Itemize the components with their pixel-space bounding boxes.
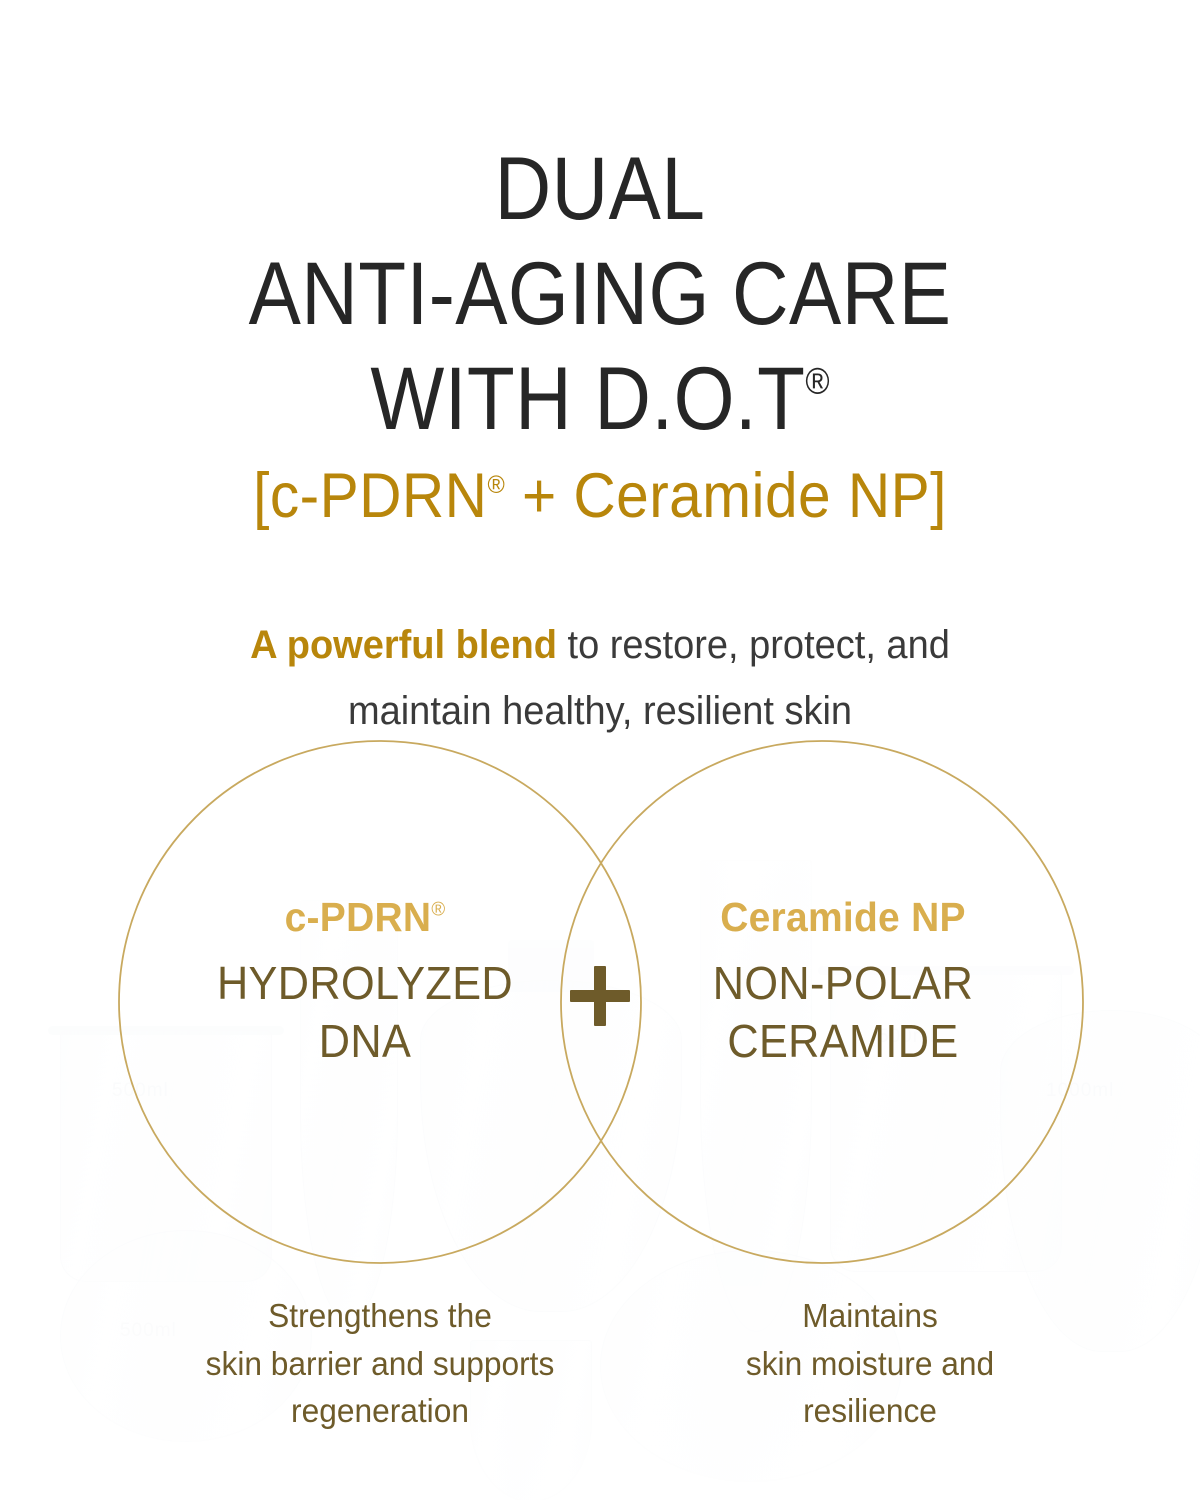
venn-label-right: Ceramide NP NON-POLAR CERAMIDE	[608, 892, 1078, 1071]
venn-right-tradename: Ceramide NP	[620, 892, 1067, 943]
description-paragraph: A powerful blend to restore, protect, an…	[30, 612, 1170, 744]
bracket-close: ]	[930, 461, 947, 531]
ingredient-name-secondary: Ceramide NP	[573, 461, 930, 531]
ingredient-subtitle: [c-PDRN® + Ceramide NP]	[42, 460, 1158, 532]
description-line1: to restore, protect, and	[557, 623, 950, 667]
description-accent: A powerful blend	[250, 623, 557, 667]
registered-trademark-icon: ®	[431, 898, 445, 920]
venn-left-tradename-text: c-PDRN	[285, 894, 432, 940]
bracket-open: [	[253, 461, 270, 531]
page-title: DUAL ANTI-AGING CARE WITH D.O.T®	[72, 136, 1128, 451]
venn-right-termname: NON-POLAR CERAMIDE	[622, 955, 1064, 1071]
ingredient-name-primary: c-PDRN	[270, 461, 488, 531]
infographic-page: 500ml 500ml 500ml 1000ml DUAL ANTI-AGING…	[0, 0, 1200, 1500]
caption-left: Strengthens the skin barrier and support…	[121, 1292, 639, 1435]
registered-trademark-icon: ®	[487, 471, 505, 499]
caption-right: Maintains skin moisture and resilience	[654, 1292, 1086, 1435]
registered-trademark-icon: ®	[805, 359, 829, 401]
venn-left-termname: HYDROLYZED DNA	[144, 955, 586, 1071]
plus-separator: +	[505, 461, 573, 531]
page-title-text: DUAL ANTI-AGING CARE WITH D.O.T	[249, 138, 952, 448]
venn-left-tradename: c-PDRN®	[142, 892, 589, 943]
venn-right-tradename-text: Ceramide NP	[720, 894, 966, 940]
description-line2: maintain healthy, resilient skin	[348, 689, 852, 733]
venn-label-left: c-PDRN® HYDROLYZED DNA	[130, 892, 600, 1071]
